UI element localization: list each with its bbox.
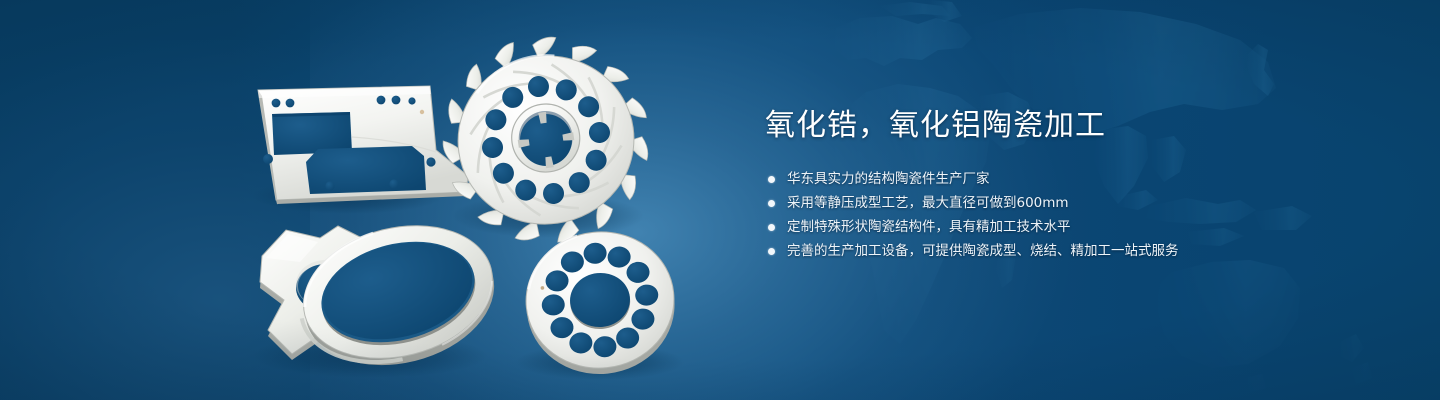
banner-headline: 氧化锆，氧化铝陶瓷加工 bbox=[765, 106, 1365, 146]
feature-item: 华东具实力的结构陶瓷件生产厂家 bbox=[765, 172, 1365, 187]
bullet-dot-icon bbox=[768, 176, 775, 183]
feature-item: 采用等静压成型工艺，最大直径可做到600mm bbox=[765, 196, 1365, 211]
feature-text: 华东具实力的结构陶瓷件生产厂家 bbox=[787, 171, 990, 187]
feature-list: 华东具实力的结构陶瓷件生产厂家 采用等静压成型工艺，最大直径可做到600mm 定… bbox=[765, 172, 1365, 259]
feature-item: 完善的生产加工设备，可提供陶瓷成型、烧结、精加工一站式服务 bbox=[765, 244, 1365, 259]
feature-text: 定制特殊形状陶瓷结构件，具有精加工技术水平 bbox=[787, 219, 1071, 235]
bullet-dot-icon bbox=[768, 248, 775, 255]
bullet-dot-icon bbox=[768, 224, 775, 231]
feature-text: 采用等静压成型工艺，最大直径可做到600mm bbox=[787, 195, 1069, 211]
promo-banner: 氧化锆，氧化铝陶瓷加工 华东具实力的结构陶瓷件生产厂家 采用等静压成型工艺，最大… bbox=[0, 0, 1440, 400]
feature-item: 定制特殊形状陶瓷结构件，具有精加工技术水平 bbox=[765, 220, 1365, 235]
banner-copy: 氧化锆，氧化铝陶瓷加工 华东具实力的结构陶瓷件生产厂家 采用等静压成型工艺，最大… bbox=[765, 106, 1365, 259]
feature-text: 完善的生产加工设备，可提供陶瓷成型、烧结、精加工一站式服务 bbox=[787, 243, 1179, 259]
bullet-dot-icon bbox=[768, 200, 775, 207]
